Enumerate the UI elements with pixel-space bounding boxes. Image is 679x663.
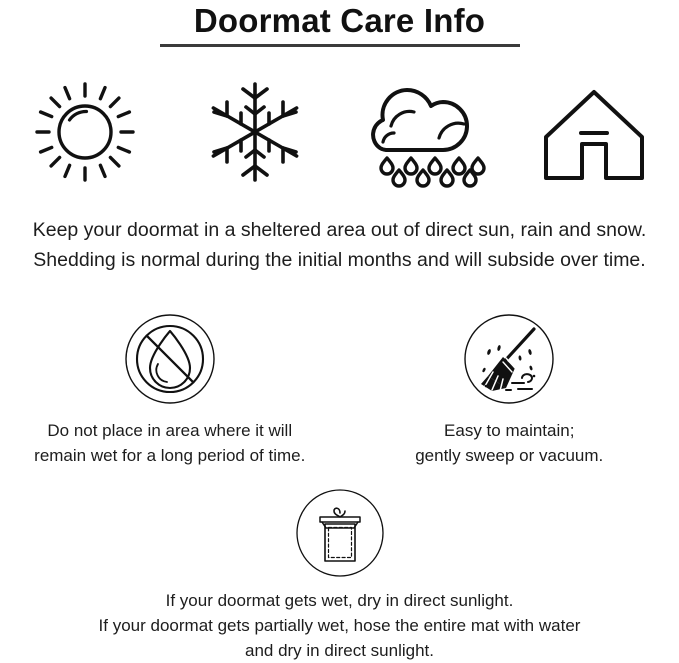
weather-cell-snow [170,72,340,192]
snowflake-icon [205,80,305,184]
care-item-1-line-1: Easy to maintain; [415,418,603,443]
drying-instruction-caption: If your doormat gets wet, dry in direct … [99,588,581,663]
page-title: Doormat Care Info [0,0,679,40]
title-block: Doormat Care Info [0,0,679,47]
intro-line-2: Shedding is normal during the initial mo… [0,245,679,275]
care-item-no-standing-water: Do not place in area where it will remai… [0,312,340,468]
house-icon [536,76,652,188]
care-item-0-line-1: Do not place in area where it will [34,418,305,443]
bottom-line-3: and dry in direct sunlight. [99,638,581,663]
rain-cloud-icon [360,76,488,188]
weather-cell-rain [340,72,510,192]
weather-cell-sun [0,72,170,192]
care-item-easy-maintain: Easy to maintain; gently sweep or vacuum… [340,312,679,468]
intro-line-1: Keep your doormat in a sheltered area ou… [0,215,679,245]
title-underline-rule [160,44,520,47]
hanging-mat-dry-icon [295,488,385,578]
broom-sweep-icon [462,312,556,406]
no-water-icon [123,312,217,406]
doormat-care-info-page: Doormat Care Info [0,0,679,655]
sun-icon [29,76,141,188]
care-item-1-line-2: gently sweep or vacuum. [415,443,603,468]
weather-cell-house [509,72,679,192]
bottom-line-2: If your doormat gets partially wet, hose… [99,613,581,638]
care-item-caption: Do not place in area where it will remai… [34,418,305,468]
care-item-caption: Easy to maintain; gently sweep or vacuum… [415,418,603,468]
intro-paragraph: Keep your doormat in a sheltered area ou… [0,215,679,275]
bottom-line-1: If your doormat gets wet, dry in direct … [99,588,581,613]
weather-icon-row [0,72,679,192]
care-items-row: Do not place in area where it will remai… [0,312,679,468]
care-item-0-line-2: remain wet for a long period of time. [34,443,305,468]
drying-instruction-block: If your doormat gets wet, dry in direct … [0,488,679,663]
